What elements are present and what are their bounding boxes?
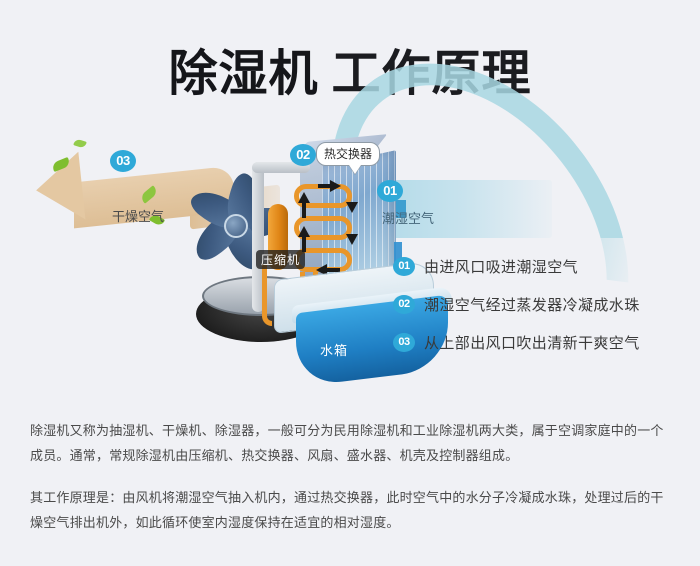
list-item: 02 潮湿空气经过蒸发器冷凝成水珠: [393, 294, 683, 315]
heat-exchanger-callout: 热交换器: [316, 142, 380, 166]
description-section: 除湿机又称为抽湿机、干燥机、除湿器，一般可分为民用除湿机和工业除湿机两大类，属于…: [30, 418, 675, 535]
diagram-badge-02: 02: [290, 144, 316, 166]
page-root: 除湿机工作原理: [0, 0, 700, 566]
compressor-label: 压缩机: [256, 250, 305, 269]
page-title: 除湿机工作原理: [0, 34, 700, 105]
paragraph-working-principle: 其工作原理是：由风机将潮湿空气抽入机内，通过热交换器，此时空气中的水分子冷凝成水…: [30, 485, 675, 535]
flow-arrow-up-icon: [298, 226, 310, 237]
step-text-03: 从上部出风口吹出清新干爽空气: [424, 332, 640, 353]
fan-hub: [224, 214, 248, 238]
water-tank-label: 水箱: [320, 340, 348, 359]
flow-arrow-down-icon: [346, 234, 358, 245]
step-badge-01: 01: [393, 257, 415, 276]
step-badge-03: 03: [393, 333, 415, 352]
list-item: 01 由进风口吸进潮湿空气: [393, 256, 683, 277]
refrigerant-return-pipe: [262, 264, 272, 326]
flow-arrow-up-icon: [298, 192, 310, 203]
diagram-badge-03: 03: [110, 150, 136, 172]
diagram-badge-01: 01: [377, 180, 403, 202]
humid-air-label: 潮湿空气: [382, 208, 434, 227]
flow-arrow-down-icon: [346, 202, 358, 213]
step-text-01: 由进风口吸进潮湿空气: [424, 256, 578, 277]
leaf-icon: [73, 138, 87, 148]
list-item: 03 从上部出风口吹出清新干爽空气: [393, 332, 683, 353]
paragraph-definition: 除湿机又称为抽湿机、干燥机、除湿器，一般可分为民用除湿机和工业除湿机两大类，属于…: [30, 418, 675, 468]
step-text-02: 潮湿空气经过蒸发器冷凝成水珠: [424, 294, 640, 315]
flow-arrow-stem: [318, 184, 332, 188]
dry-air-label: 干燥空气: [112, 206, 164, 225]
principle-steps-list: 01 由进风口吸进潮湿空气 02 潮湿空气经过蒸发器冷凝成水珠 03 从上部出风…: [393, 256, 683, 370]
title-main-text: 除湿机: [168, 47, 318, 101]
step-badge-02: 02: [393, 295, 415, 314]
flow-arrow-stem: [302, 202, 306, 218]
